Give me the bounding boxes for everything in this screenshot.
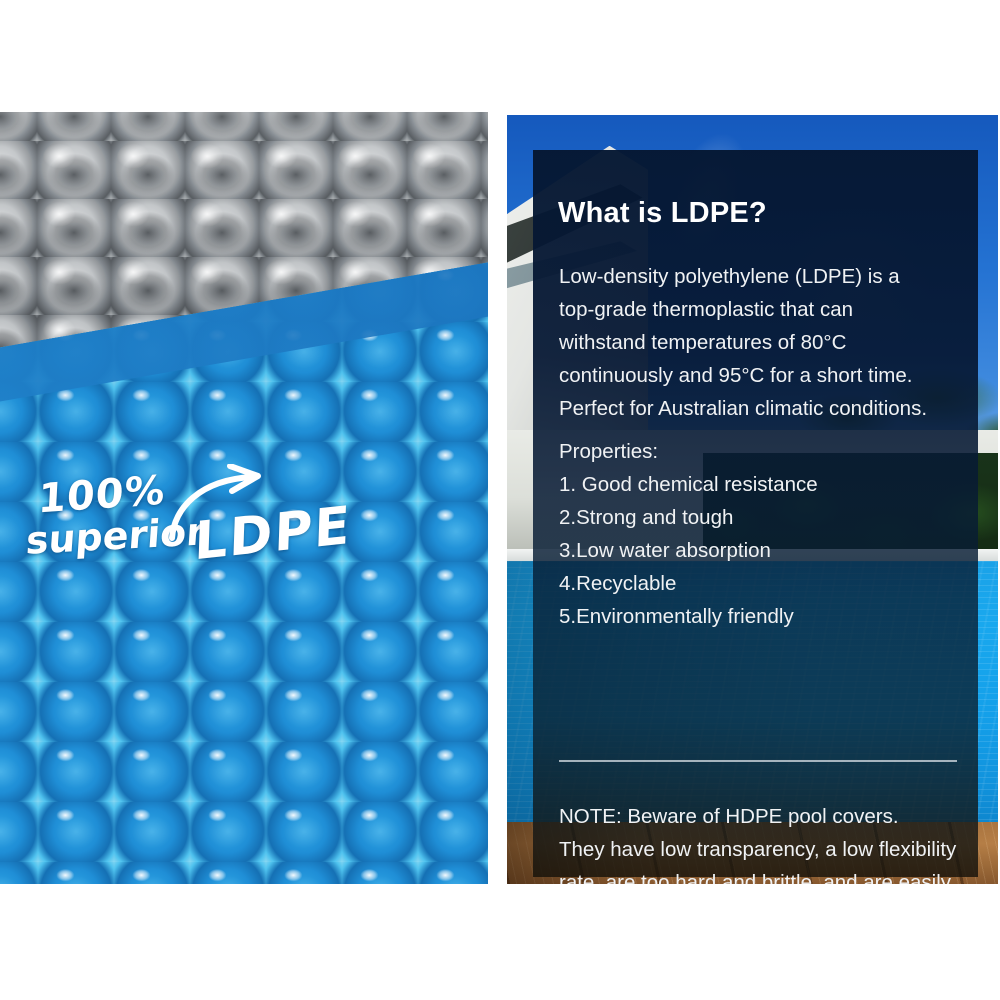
list-item: 3.Low water absorption bbox=[559, 534, 818, 567]
intro-line: Perfect for Australian climatic conditio… bbox=[559, 392, 972, 425]
divider bbox=[559, 760, 957, 762]
list-item: 4.Recyclable bbox=[559, 567, 818, 600]
intro-line: withstand temperatures of 80°C bbox=[559, 326, 972, 359]
intro-line: continuously and 95°C for a short time. bbox=[559, 359, 972, 392]
list-item: 1. Good chemical resistance bbox=[559, 468, 818, 501]
list-item: 2.Strong and tough bbox=[559, 501, 818, 534]
properties-label: Properties: bbox=[559, 435, 658, 468]
intro-paragraph: Low-density polyethylene (LDPE) is a top… bbox=[559, 260, 972, 425]
note-paragraph: NOTE: Beware of HDPE pool covers. They h… bbox=[559, 800, 972, 884]
page-title: What is LDPE? bbox=[558, 197, 767, 230]
intro-line: Low-density polyethylene (LDPE) is a bbox=[559, 260, 972, 293]
properties-list: 1. Good chemical resistance 2.Strong and… bbox=[559, 468, 818, 633]
product-infographic: 100% superior LDPE bbox=[0, 0, 1000, 1000]
info-overlay-panel: What is LDPE? Low-density polyethylene (… bbox=[533, 150, 978, 877]
ldpe-info-card: What is LDPE? Low-density polyethylene (… bbox=[507, 115, 998, 884]
intro-line: top-grade thermoplastic that can bbox=[559, 293, 972, 326]
note-line: rate, are too hard and brittle, and are … bbox=[559, 866, 972, 884]
note-line: NOTE: Beware of HDPE pool covers. bbox=[559, 800, 972, 833]
list-item: 5.Environmentally friendly bbox=[559, 600, 818, 633]
pool-cover-material-photo: 100% superior LDPE bbox=[0, 112, 488, 884]
note-line: They have low transparency, a low flexib… bbox=[559, 833, 972, 866]
